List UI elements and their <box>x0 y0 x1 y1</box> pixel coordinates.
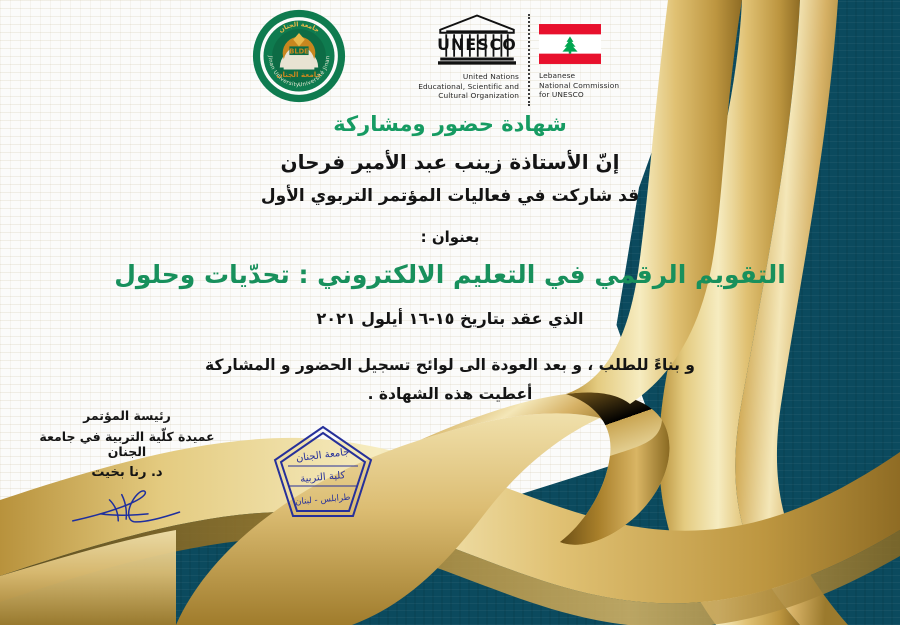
lnc-caption-line-2: National Commission <box>539 81 619 91</box>
stamp-line-3: طرابلس - لبنان <box>295 493 351 508</box>
dotted-divider <box>528 14 530 106</box>
conference-title: التقويم الرقمي في التعليم الالكتروني : ت… <box>0 260 900 289</box>
signatory-role: رئيسة المؤتمر <box>22 408 232 423</box>
svg-text:BLDE: BLDE <box>289 48 309 56</box>
unesco-column: UNESCO United Nations Educational, Scien… <box>407 14 519 101</box>
unesco-wordmark: UNESCO <box>437 35 517 54</box>
stamp-line-2: كلية التربية <box>300 470 346 485</box>
lnc-caption-line-1: Lebanese <box>539 71 619 81</box>
lnc-caption-line-3: for UNESCO <box>539 90 619 100</box>
logo-row: BLDE جامعة الجنان جامعة الجنان Jinan Uni… <box>0 8 900 106</box>
unesco-caption-line-2: Educational, Scientific and <box>418 82 519 92</box>
official-stamp-icon: جامعة الجنان كلية التربية طرابلس - لبنان <box>268 422 378 522</box>
signatory-position: عميدة كلّية التربية في جامعة الجنان <box>22 429 232 459</box>
unesco-caption-line-3: Cultural Organization <box>418 91 519 101</box>
titled-label: بعنوان : <box>0 228 900 246</box>
handwritten-signature-icon <box>57 482 197 530</box>
certificate-body: شهادة حضور ومشاركة إنّ الأستاذة زينب عبد… <box>0 112 900 403</box>
lebanese-commission-caption: Lebanese National Commission for UNESCO <box>539 71 619 100</box>
signatory-name: د. رنا بخيت <box>22 465 232 480</box>
unesco-caption-line-1: United Nations <box>418 72 519 82</box>
lebanon-flag-icon <box>539 24 601 64</box>
participation-line: قد شاركت في فعاليات المؤتمر التربوي الأو… <box>0 186 900 206</box>
body-paragraph-line-2: أعطيت هذه الشهادة . <box>0 385 900 403</box>
conference-date-line: الذي عقد بتاريخ ١٥-١٦ أيلول ٢٠٢١ <box>0 309 900 328</box>
unesco-caption: United Nations Educational, Scientific a… <box>418 72 519 101</box>
stamp-line-1: جامعة الجنان <box>295 447 350 464</box>
signature-block: رئيسة المؤتمر عميدة كلّية التربية في جام… <box>22 408 232 534</box>
recipient-name-line: إنّ الأستاذة زينب عبد الأمير فرحان <box>0 150 900 174</box>
body-paragraph-line-1: و بناءً للطلب ، و بعد العودة الى لوائح ت… <box>0 356 900 374</box>
certificate-content: BLDE جامعة الجنان جامعة الجنان Jinan Uni… <box>0 0 900 625</box>
certificate-canvas: BLDE جامعة الجنان جامعة الجنان Jinan Uni… <box>0 0 900 625</box>
certificate-heading: شهادة حضور ومشاركة <box>0 112 900 136</box>
unesco-temple-logo-icon: UNESCO <box>435 14 519 68</box>
lebanese-commission-column: Lebanese National Commission for UNESCO <box>539 14 649 100</box>
jinan-university-seal-icon: BLDE جامعة الجنان جامعة الجنان Jinan Uni… <box>251 8 347 104</box>
unesco-partner-block: UNESCO United Nations Educational, Scien… <box>407 8 649 106</box>
